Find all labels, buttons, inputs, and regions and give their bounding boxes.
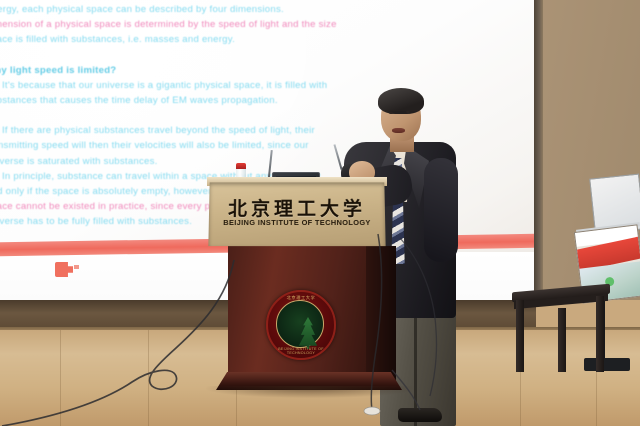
banner-logo-dot-icon <box>74 265 79 269</box>
side-table-leg <box>558 308 566 372</box>
speaker-mouth <box>392 128 405 133</box>
floor-plank <box>148 330 149 426</box>
pine-tree-icon <box>297 317 319 349</box>
emblem-bottom-text: BEIJING INSTITUTE OF TECHNOLOGY <box>268 347 334 355</box>
water-bottle-cap <box>236 163 246 169</box>
university-emblem: 北京理工大学 BEIJING INSTITUTE OF TECHNOLOGY <box>266 290 336 360</box>
display-stand-base <box>584 358 630 371</box>
slide-line: space is filled with substances, i.e. ma… <box>0 32 534 47</box>
podium-english-name: BEIJING INSTITUTE OF TECHNOLOGY <box>209 218 386 227</box>
screen-right-edge <box>534 0 543 300</box>
lecture-photo: energy, each physical space can be descr… <box>0 0 640 426</box>
slide-line: dimension of a physical space is determi… <box>0 17 534 32</box>
slide-spacer <box>0 108 534 123</box>
speaker-left-arm <box>424 158 458 262</box>
side-table-leg <box>596 296 604 372</box>
slide-line-heading: Why light speed is limited? <box>0 63 534 78</box>
podium-chinese-name: 北京理工大学 <box>209 194 385 221</box>
podium-body-side <box>366 246 396 382</box>
speaker-shoe <box>398 408 442 422</box>
podium-front-panel: 北京理工大学 BEIJING INSTITUTE OF TECHNOLOGY <box>208 182 385 246</box>
slide-line: If there are physical substances travel … <box>0 123 534 138</box>
podium-shadow <box>206 386 416 398</box>
floor-plank <box>60 330 61 426</box>
slide-spacer <box>0 48 534 63</box>
slide-line: substances that causes the time delay of… <box>0 93 534 108</box>
slide-line: energy, each physical space can be descr… <box>0 2 534 17</box>
emblem-inner <box>276 300 324 348</box>
slide-line: It's because that our universe is a giga… <box>0 78 534 93</box>
side-table-leg <box>516 300 524 372</box>
